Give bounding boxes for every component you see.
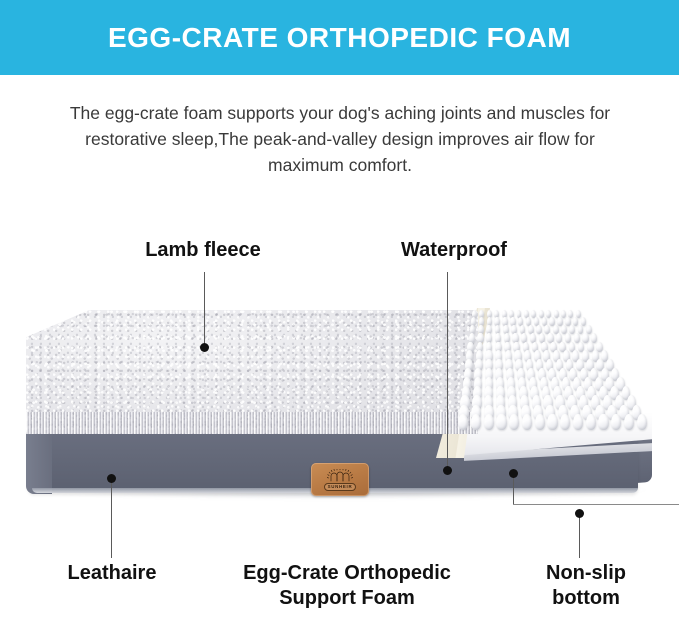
foam-nub xyxy=(581,317,586,326)
foam-nub xyxy=(484,414,494,430)
leader-dot-leathaire xyxy=(107,474,116,483)
foam-nub xyxy=(458,414,468,430)
foam-nub xyxy=(560,414,570,430)
foam-nub xyxy=(509,414,519,430)
leader-dot-lamb-fleece xyxy=(200,343,209,352)
foam-nub xyxy=(535,414,545,430)
sun-arch-logo-icon xyxy=(327,469,353,482)
foam-nub xyxy=(624,414,634,430)
foam-nub xyxy=(561,310,566,318)
brand-tag-label: SUNHEIR xyxy=(324,483,357,491)
leader-line-egg-crate-vertical xyxy=(513,477,514,504)
foam-nub xyxy=(637,414,647,430)
leader-dot-non-slip xyxy=(575,509,584,518)
leader-dot-waterproof xyxy=(443,466,452,475)
header-banner: EGG-CRATE ORTHOPEDIC FOAM xyxy=(0,0,679,75)
callout-label-waterproof: Waterproof xyxy=(366,238,542,263)
foam-nub xyxy=(569,325,575,334)
leader-line-leathaire xyxy=(111,480,112,558)
callout-label-non-slip: Non-slip bottom xyxy=(506,561,666,611)
leader-line-non-slip xyxy=(579,516,580,558)
leader-line-egg-crate-diagonal xyxy=(513,504,679,505)
foam-nub xyxy=(522,414,532,430)
foam-nub xyxy=(598,414,608,430)
leader-line-waterproof xyxy=(447,272,448,469)
foam-nub xyxy=(582,333,588,343)
product-illustration: SUNHEIR xyxy=(28,308,652,523)
callout-label-lamb-fleece: Lamb fleece xyxy=(104,238,302,263)
foam-nub xyxy=(573,317,578,326)
foam-nub xyxy=(573,414,583,430)
foam-nub xyxy=(547,414,557,430)
leathaire-left-corner xyxy=(26,424,52,494)
leader-dot-egg-crate xyxy=(509,469,518,478)
egg-crate-foam-surface xyxy=(458,306,664,466)
foam-nub xyxy=(586,414,596,430)
leader-line-lamb-fleece xyxy=(204,272,205,346)
lamb-fleece-pile-edge xyxy=(26,412,478,434)
page-title: EGG-CRATE ORTHOPEDIC FOAM xyxy=(108,22,571,54)
foam-nub xyxy=(496,414,506,430)
foam-nub xyxy=(565,317,570,326)
brand-tag: SUNHEIR xyxy=(311,463,369,496)
callout-label-leathaire: Leathaire xyxy=(30,561,194,586)
foam-nub xyxy=(471,414,481,430)
callout-label-egg-crate: Egg-Crate Orthopedic Support Foam xyxy=(200,561,494,611)
description-text: The egg-crate foam supports your dog's a… xyxy=(62,100,618,178)
